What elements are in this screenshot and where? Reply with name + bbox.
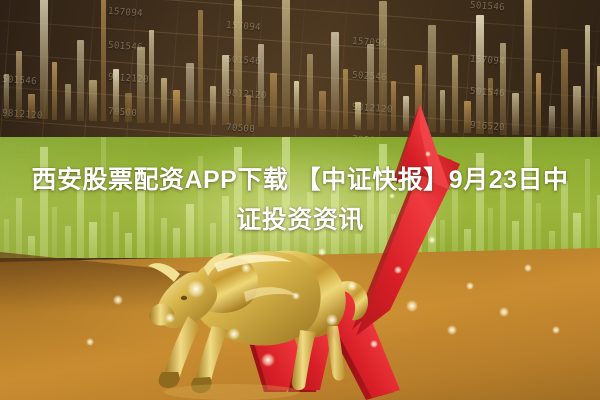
page-title: 西安股票配资APP下载 【中证快报】9月23日中 证投资资讯 [0,160,600,240]
banner-image: 5015469812120705007090910157094501546981… [0,0,600,400]
headline-line-1: 西安股票配资APP下载 【中证快报】9月23日中 [31,166,568,194]
bull-horn-left [148,263,180,282]
bull-rear-leg-2 [326,326,345,381]
bull-tail [342,281,368,320]
headline-line-2: 证投资资讯 [0,200,600,240]
bull-eye [181,296,187,300]
bull-rear-leg-1 [292,330,316,390]
bull-reflection [164,384,300,400]
golden-bull-statue [140,230,390,400]
bull-hoof-1 [159,372,180,388]
